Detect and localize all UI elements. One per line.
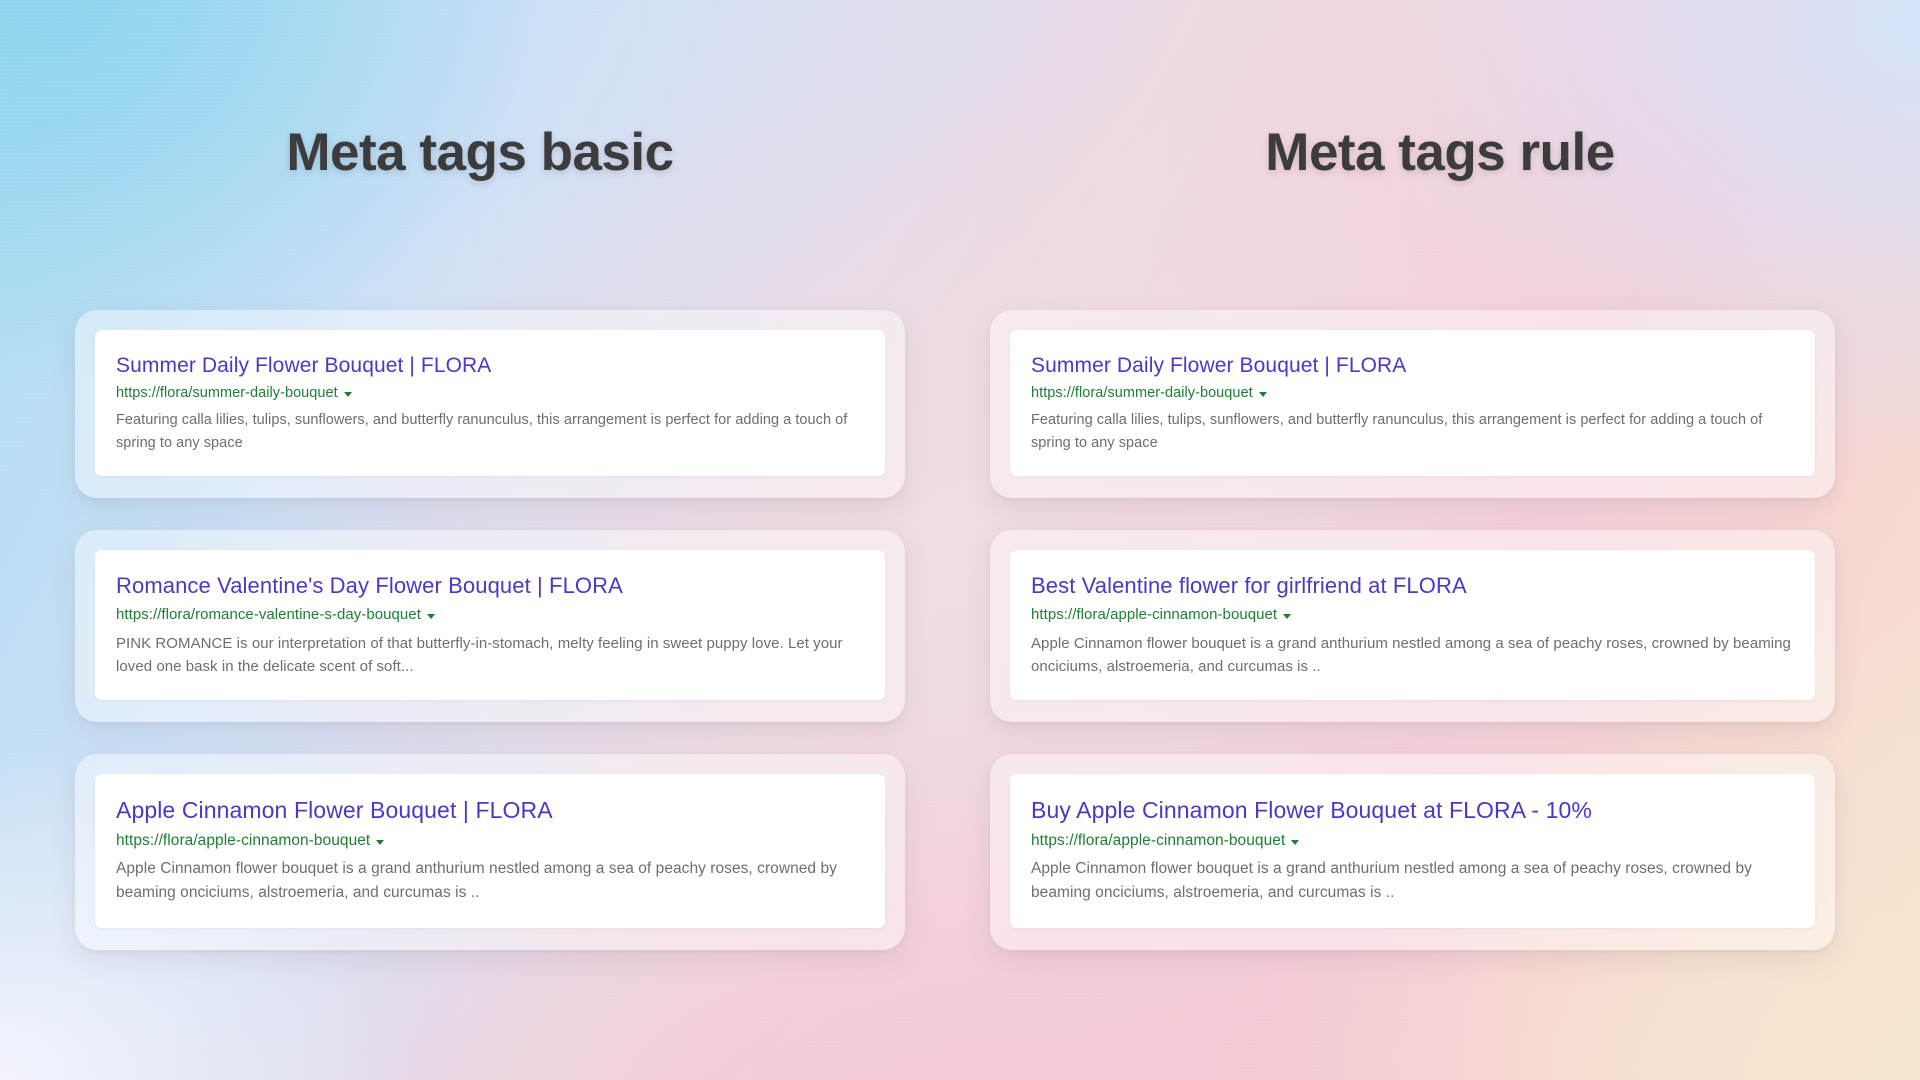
caret-down-icon[interactable]	[1283, 614, 1291, 619]
result-title-link[interactable]: Best Valentine flower for girlfriend at …	[1031, 572, 1793, 601]
result-url-link[interactable]: https://flora/apple-cinnamon-bouquet	[1031, 606, 1277, 625]
column-meta-tags-rule: Summer Daily Flower Bouquet | FLORA http…	[990, 310, 1840, 950]
result-description: PINK ROMANCE is our interpretation of th…	[116, 632, 863, 679]
result-description: Featuring calla lilies, tulips, sunflowe…	[1031, 409, 1793, 454]
result-title-link[interactable]: Summer Daily Flower Bouquet | FLORA	[116, 352, 863, 379]
result-description: Apple Cinnamon flower bouquet is a grand…	[1031, 632, 1793, 679]
caret-down-icon[interactable]	[376, 840, 384, 845]
result-card-frame: Summer Daily Flower Bouquet | FLORA http…	[990, 310, 1835, 498]
result-title-link[interactable]: Apple Cinnamon Flower Bouquet | FLORA	[116, 796, 863, 826]
result-url-link[interactable]: https://flora/apple-cinnamon-bouquet	[1031, 831, 1285, 850]
caret-down-icon[interactable]	[1291, 840, 1299, 845]
search-result-card[interactable]: Summer Daily Flower Bouquet | FLORA http…	[1010, 330, 1815, 476]
result-url-link[interactable]: https://flora/summer-daily-bouquet	[116, 384, 338, 402]
result-card-frame: Buy Apple Cinnamon Flower Bouquet at FLO…	[990, 754, 1835, 949]
search-result-card[interactable]: Romance Valentine's Day Flower Bouquet |…	[95, 550, 885, 700]
page-root: Meta tags basic Meta tags rule Summer Da…	[0, 0, 1920, 1080]
result-url-row: https://flora/summer-daily-bouquet	[1031, 384, 1793, 402]
result-description: Apple Cinnamon flower bouquet is a grand…	[116, 857, 863, 905]
result-url-link[interactable]: https://flora/apple-cinnamon-bouquet	[116, 831, 370, 850]
result-url-row: https://flora/apple-cinnamon-bouquet	[116, 831, 863, 850]
result-description: Featuring calla lilies, tulips, sunflowe…	[116, 409, 863, 454]
column-meta-tags-basic: Summer Daily Flower Bouquet | FLORA http…	[75, 310, 915, 950]
caret-down-icon[interactable]	[344, 392, 352, 397]
result-card-frame: Apple Cinnamon Flower Bouquet | FLORA ht…	[75, 754, 905, 949]
page-title-meta-tags-rule: Meta tags rule	[960, 122, 1920, 183]
result-title-link[interactable]: Summer Daily Flower Bouquet | FLORA	[1031, 352, 1793, 379]
search-result-card[interactable]: Summer Daily Flower Bouquet | FLORA http…	[95, 330, 885, 476]
result-card-frame: Romance Valentine's Day Flower Bouquet |…	[75, 530, 905, 722]
result-title-link[interactable]: Buy Apple Cinnamon Flower Bouquet at FLO…	[1031, 796, 1793, 826]
search-result-card[interactable]: Best Valentine flower for girlfriend at …	[1010, 550, 1815, 700]
result-url-row: https://flora/apple-cinnamon-bouquet	[1031, 606, 1793, 625]
result-title-link[interactable]: Romance Valentine's Day Flower Bouquet |…	[116, 572, 863, 601]
result-url-row: https://flora/apple-cinnamon-bouquet	[1031, 831, 1793, 850]
caret-down-icon[interactable]	[427, 614, 435, 619]
search-result-card[interactable]: Buy Apple Cinnamon Flower Bouquet at FLO…	[1010, 774, 1815, 927]
result-url-row: https://flora/romance-valentine-s-day-bo…	[116, 606, 863, 625]
search-result-card[interactable]: Apple Cinnamon Flower Bouquet | FLORA ht…	[95, 774, 885, 927]
result-card-frame: Best Valentine flower for girlfriend at …	[990, 530, 1835, 722]
result-url-row: https://flora/summer-daily-bouquet	[116, 384, 863, 402]
result-description: Apple Cinnamon flower bouquet is a grand…	[1031, 857, 1793, 905]
result-card-frame: Summer Daily Flower Bouquet | FLORA http…	[75, 310, 905, 498]
page-title-meta-tags-basic: Meta tags basic	[0, 122, 960, 183]
caret-down-icon[interactable]	[1259, 392, 1267, 397]
result-url-link[interactable]: https://flora/summer-daily-bouquet	[1031, 384, 1253, 402]
result-url-link[interactable]: https://flora/romance-valentine-s-day-bo…	[116, 606, 421, 625]
